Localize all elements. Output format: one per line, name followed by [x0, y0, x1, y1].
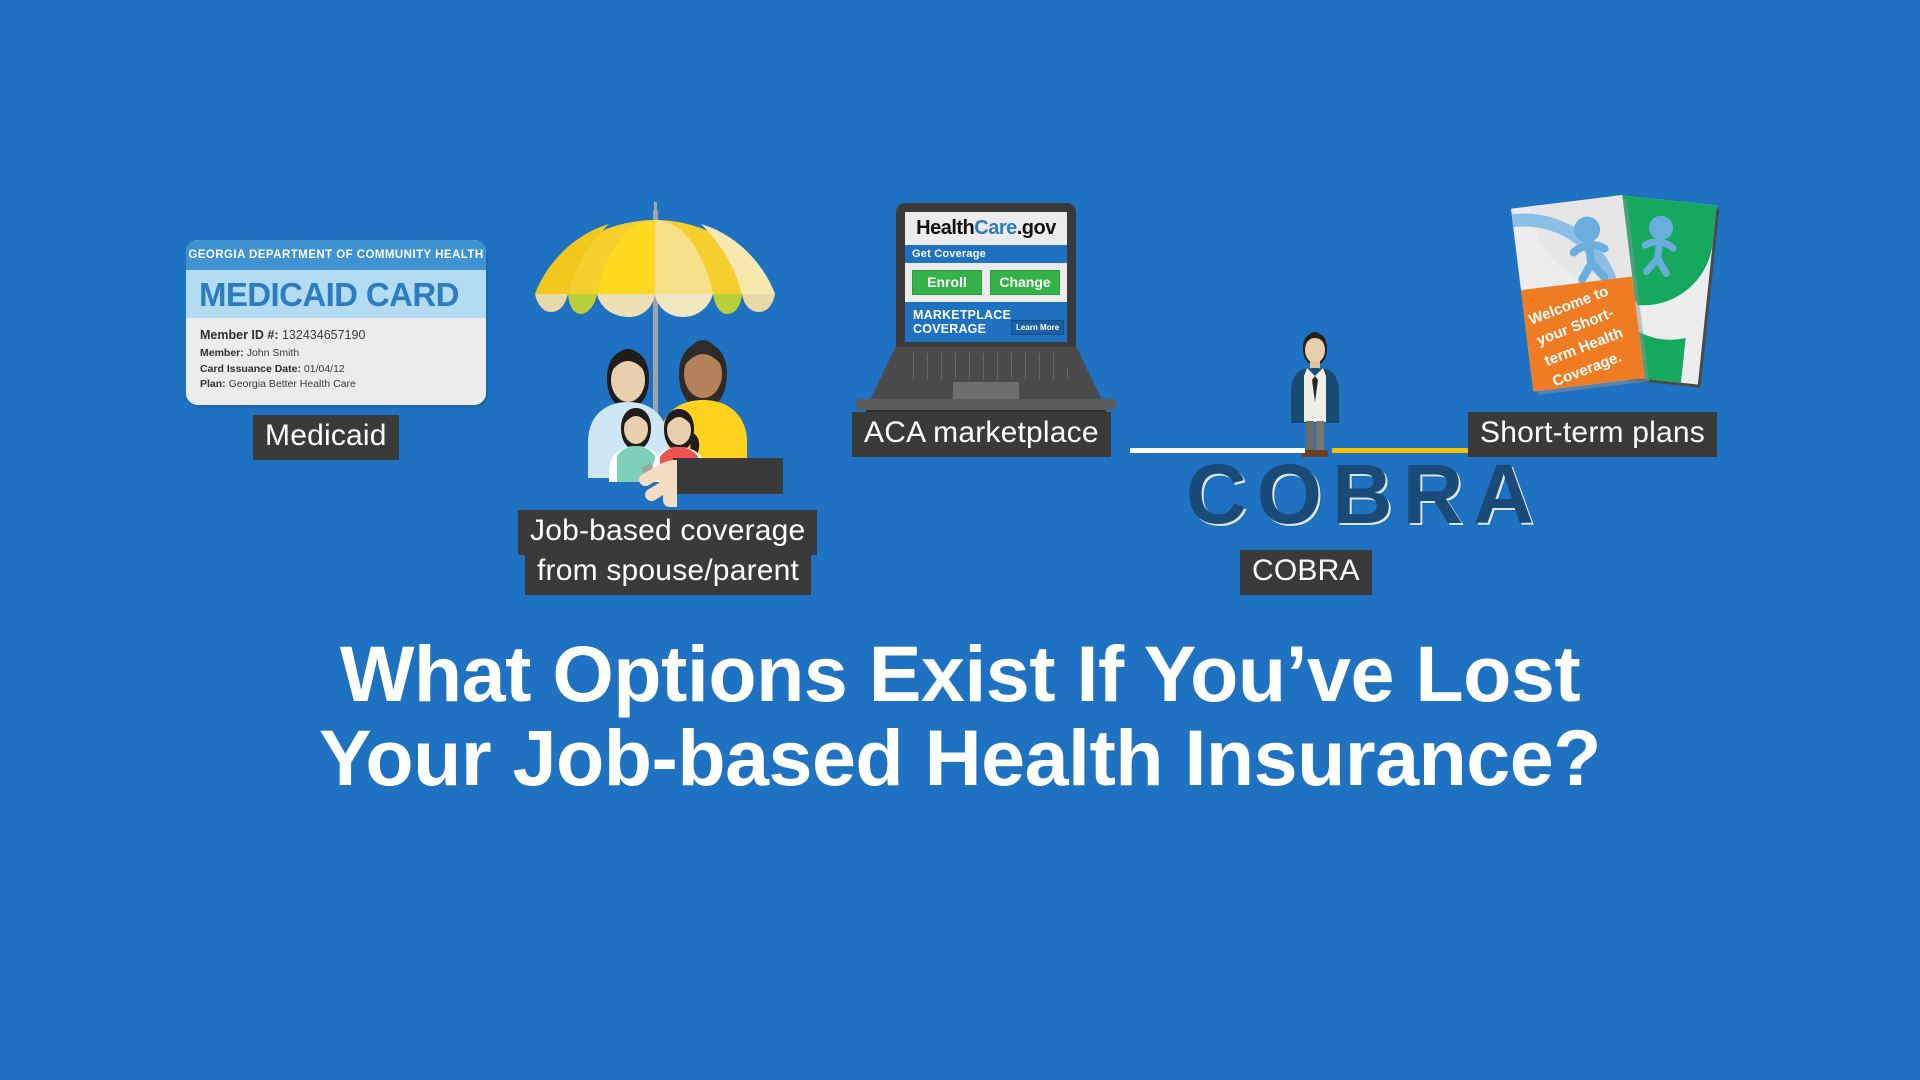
medicaid-issuance-label: Card Issuance Date: — [200, 363, 301, 375]
logo-part-gov: .gov — [1017, 217, 1056, 240]
laptop-screen: HealthCare.gov Get Coverage Enroll Chang… — [905, 212, 1067, 342]
caption-job-based-coverage-line1: Job-based coverage — [518, 510, 817, 555]
healthcare-gov-logo: HealthCare.gov — [905, 212, 1067, 245]
medicaid-member-id-label: Member ID #: — [200, 328, 279, 342]
learn-more-button[interactable]: Learn More — [1011, 320, 1064, 335]
caption-short-term-plans: Short-term plans — [1468, 412, 1717, 457]
medicaid-department-label: GEORGIA DEPARTMENT OF COMMUNITY HEALTH — [188, 249, 483, 261]
hand-icon — [623, 448, 703, 510]
page-title: What Options Exist If You’ve Lost Your J… — [0, 632, 1920, 799]
marketplace-line1: MARKETPLACE — [913, 308, 1011, 322]
change-button[interactable]: Change — [990, 270, 1060, 295]
logo-part-care: Care — [974, 217, 1016, 240]
umbrella-family-icon — [505, 210, 805, 510]
medicaid-member-value: John Smith — [247, 347, 300, 359]
headline-line-2: Your Job-based Health Insurance? — [0, 716, 1920, 800]
medicaid-plan-row: Plan: Georgia Better Health Care — [200, 378, 486, 390]
get-coverage-nav[interactable]: Get Coverage — [905, 245, 1067, 263]
medicaid-member-label: Member: — [200, 347, 244, 359]
logo-part-health: Health — [916, 217, 974, 240]
medicaid-member-id-value: 132434657190 — [282, 328, 365, 342]
businessman-icon — [1280, 330, 1350, 460]
medicaid-card-title: MEDICAID CARD — [199, 278, 459, 311]
brochure-icon: to - h Welcome to your Short- term Healt… — [1510, 195, 1740, 405]
laptop-lid: HealthCare.gov Get Coverage Enroll Chang… — [896, 203, 1076, 348]
cobra-wordmark: COBRA — [1186, 452, 1486, 536]
laptop-front-edge — [856, 399, 1116, 410]
medicaid-plan-value: Georgia Better Health Care — [229, 378, 356, 390]
medicaid-card-header: GEORGIA DEPARTMENT OF COMMUNITY HEALTH — [186, 240, 486, 270]
enroll-button[interactable]: Enroll — [912, 270, 982, 295]
infographic-canvas: GEORGIA DEPARTMENT OF COMMUNITY HEALTH M… — [0, 0, 1920, 1080]
laptop-keyboard — [900, 353, 1072, 379]
marketplace-line2: COVERAGE — [913, 322, 1011, 336]
laptop-icon: HealthCare.gov Get Coverage Enroll Chang… — [830, 203, 1130, 413]
marketplace-coverage-heading: MARKETPLACE COVERAGE — [913, 308, 1011, 336]
medicaid-issuance-row: Card Issuance Date: 01/04/12 — [200, 363, 486, 375]
medicaid-member-row: Member: John Smith — [200, 347, 486, 359]
umbrella-canopy-icon — [505, 218, 805, 328]
caption-job-based-coverage-line2: from spouse/parent — [525, 550, 811, 595]
medicaid-card-details: Member ID #: 132434657190 Member: John S… — [186, 318, 486, 390]
medicaid-member-id-row: Member ID #: 132434657190 — [200, 328, 486, 342]
caption-cobra: COBRA — [1240, 550, 1372, 595]
marketplace-coverage-panel: MARKETPLACE COVERAGE Learn More — [905, 302, 1067, 342]
caption-medicaid: Medicaid — [253, 415, 399, 460]
medicaid-card-icon: GEORGIA DEPARTMENT OF COMMUNITY HEALTH M… — [186, 240, 486, 405]
cobra-icon-group: COBRA — [1110, 330, 1510, 560]
laptop-trackpad — [953, 382, 1019, 399]
headline-line-1: What Options Exist If You’ve Lost — [340, 629, 1580, 718]
screen-button-row: Enroll Change — [905, 263, 1067, 302]
brochure-pages: to - h Welcome to your Short- term Healt… — [1510, 195, 1740, 410]
medicaid-card-title-band: MEDICAID CARD — [186, 270, 486, 318]
caption-aca-marketplace: ACA marketplace — [852, 412, 1111, 457]
medicaid-plan-label: Plan: — [200, 378, 226, 390]
medicaid-issuance-value: 01/04/12 — [304, 363, 345, 375]
